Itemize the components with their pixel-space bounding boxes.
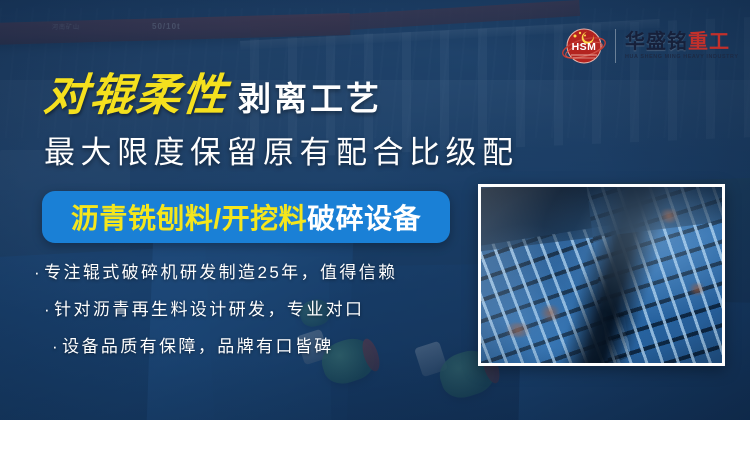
logo-text-block: 华盛铭重工 HUA SHENG MING HEAVY INDUSTRY (623, 32, 739, 60)
list-item: ·针对沥青再生料设计研发，专业对口 (34, 295, 398, 320)
list-item: ·设备品质有保障，品牌有口皆碑 (34, 332, 398, 357)
selling-points-list: ·专注辊式破碎机研发制造25年，值得信赖 ·针对沥青再生料设计研发，专业对口 ·… (34, 258, 398, 369)
logo-divider (615, 29, 616, 63)
headline-block: 对辊柔性 剥离工艺 最大限度保留原有配合比级配 (44, 74, 519, 172)
bullet-text: 设备品质有保障，品牌有口皆碑 (62, 337, 334, 356)
bullet-text: 专注辊式破碎机研发制造25年，值得信赖 (44, 263, 398, 282)
bullet-dot-icon: · (34, 263, 42, 282)
product-photo-image (481, 187, 722, 363)
headline-line-1: 对辊柔性 剥离工艺 (44, 74, 519, 118)
product-category-pill[interactable]: 沥青铣刨料/开挖料 破碎设备 (42, 191, 450, 243)
logo-company-name-en: HUA SHENG MING HEAVY INDUSTRY (625, 55, 739, 60)
bullet-dot-icon: · (52, 337, 60, 356)
logo-name-red: 重工 (688, 31, 730, 53)
headline-line-2: 最大限度保留原有配合比级配 (44, 127, 519, 172)
company-logo[interactable]: HSM 华盛铭重工 HUA SHENG MING HEAVY INDUSTRY (560, 22, 739, 70)
hsm-planet-logo-icon: HSM (560, 22, 608, 70)
page-whitespace (0, 420, 750, 451)
logo-name-dark: 华盛铭 (625, 31, 688, 53)
product-photo[interactable] (478, 184, 725, 366)
svg-text:HSM: HSM (572, 41, 597, 53)
pill-highlight-text: 沥青铣刨料/开挖料 (71, 197, 307, 237)
banner-screenshot: 河南矿山 50/10t (0, 0, 750, 451)
promo-banner: 河南矿山 50/10t (0, 0, 750, 420)
pill-rest-text: 破碎设备 (307, 197, 421, 237)
headline-highlight: 对辊柔性 (42, 74, 238, 118)
bullet-text: 针对沥青再生料设计研发，专业对口 (54, 300, 364, 319)
list-item: ·专注辊式破碎机研发制造25年，值得信赖 (34, 258, 398, 283)
photo-vignette (481, 187, 722, 363)
bullet-dot-icon: · (44, 300, 52, 319)
logo-company-name-cn: 华盛铭重工 (625, 32, 739, 52)
headline-rest: 剥离工艺 (238, 82, 382, 115)
